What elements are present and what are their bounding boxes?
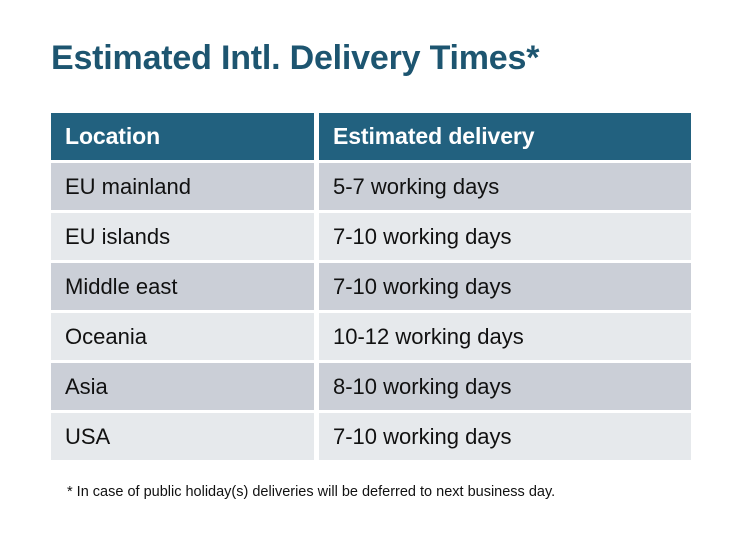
cell-estimated-delivery: 5-7 working days (319, 163, 691, 210)
cell-location: Middle east (51, 263, 314, 310)
cell-location: Asia (51, 363, 314, 410)
table-row: Oceania 10-12 working days (51, 313, 691, 360)
cell-location: Oceania (51, 313, 314, 360)
table-row: USA 7-10 working days (51, 413, 691, 460)
page-title: Estimated Intl. Delivery Times* (51, 36, 539, 80)
cell-location: USA (51, 413, 314, 460)
column-header-location: Location (51, 113, 314, 160)
cell-estimated-delivery: 8-10 working days (319, 363, 691, 410)
cell-location: EU mainland (51, 163, 314, 210)
cell-location: EU islands (51, 213, 314, 260)
table-row: Asia 8-10 working days (51, 363, 691, 410)
table-row: EU islands 7-10 working days (51, 213, 691, 260)
table-row: EU mainland 5-7 working days (51, 163, 691, 210)
table-header-row: Location Estimated delivery (51, 113, 691, 160)
footnote: * In case of public holiday(s) deliverie… (67, 482, 555, 502)
cell-estimated-delivery: 7-10 working days (319, 213, 691, 260)
delivery-times-table: Location Estimated delivery EU mainland … (51, 113, 691, 463)
cell-estimated-delivery: 10-12 working days (319, 313, 691, 360)
table-row: Middle east 7-10 working days (51, 263, 691, 310)
cell-estimated-delivery: 7-10 working days (319, 263, 691, 310)
delivery-times-card: Estimated Intl. Delivery Times* Location… (0, 0, 745, 536)
cell-estimated-delivery: 7-10 working days (319, 413, 691, 460)
column-header-estimated-delivery: Estimated delivery (319, 113, 691, 160)
